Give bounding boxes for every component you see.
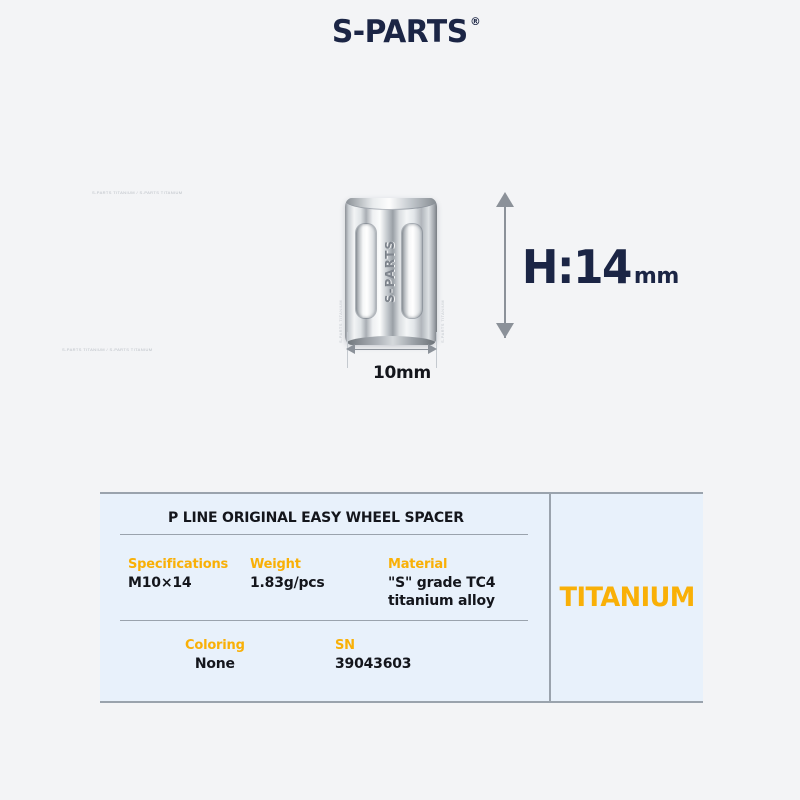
width-dimension-label: 10mm: [373, 363, 431, 383]
brand-wordmark: S-PARTS ®: [332, 14, 468, 50]
spec-value-specifications: M10×14: [128, 575, 228, 593]
photo-watermark-top: S-PARTS TITANIUM / S-PARTS TITANIUM: [92, 190, 183, 195]
spec-field-weight: Weight 1.83g/pcs: [250, 557, 325, 593]
spec-value-material: "S" grade TC4 titanium alloy: [388, 575, 495, 610]
dimension-arrow-right-icon: [428, 344, 437, 354]
photo-watermark-right: S-PARTS TITANIUM: [440, 300, 445, 343]
spec-field-sn: SN 39043603: [335, 638, 411, 674]
spacer-engraving-text: S-PARTS: [375, 208, 405, 334]
registered-trademark-symbol: ®: [470, 15, 480, 28]
spacer-top-rim: [346, 198, 436, 210]
product-photo-stage: S-PARTS S-PARTS TITANIUM / S-PARTS TITAN…: [0, 150, 800, 450]
spec-value-sn: 39043603: [335, 656, 411, 674]
specification-panel: P LINE ORIGINAL EASY WHEEL SPACER Specif…: [100, 492, 703, 703]
height-dimension-unit: mm: [634, 264, 679, 289]
spec-value-coloring: None: [185, 656, 245, 674]
spacer-slot-left: [356, 224, 376, 318]
material-highlight-word: TITANIUM: [559, 582, 694, 613]
spec-field-specifications: Specifications M10×14: [128, 557, 228, 593]
spec-divider-bottom: [120, 620, 528, 621]
brand-wordmark-text: S-PARTS: [332, 14, 468, 50]
spec-field-material: Material "S" grade TC4 titanium alloy: [388, 557, 495, 610]
dimension-line-vertical: [504, 200, 506, 338]
product-title: P LINE ORIGINAL EASY WHEEL SPACER: [168, 510, 464, 526]
material-highlight-column: TITANIUM: [549, 494, 703, 701]
spec-field-coloring: Coloring None: [185, 638, 245, 674]
spacer-bottom-rim: [346, 336, 436, 345]
photo-watermark-left: S-PARTS TITANIUM: [338, 300, 343, 343]
spec-divider-top: [120, 534, 528, 535]
height-dimension-label: H:14mm: [519, 240, 679, 294]
dimension-line-horizontal: [350, 349, 434, 350]
spec-label-specifications: Specifications: [128, 557, 228, 572]
titanium-spacer-part: S-PARTS: [345, 198, 437, 345]
spec-value-weight: 1.83g/pcs: [250, 575, 325, 593]
spec-label-coloring: Coloring: [185, 638, 245, 653]
spec-label-sn: SN: [335, 638, 411, 653]
spec-label-weight: Weight: [250, 557, 325, 572]
height-dimension-value: H:14: [522, 240, 631, 294]
specification-main-column: P LINE ORIGINAL EASY WHEEL SPACER Specif…: [100, 494, 549, 701]
photo-watermark-bottom: S-PARTS TITANIUM / S-PARTS TITANIUM: [62, 347, 153, 352]
dimension-arrow-down-icon: [496, 323, 514, 338]
brand-header: S-PARTS ®: [0, 14, 800, 58]
spacer-slot-right: [402, 224, 422, 318]
spec-label-material: Material: [388, 557, 495, 572]
